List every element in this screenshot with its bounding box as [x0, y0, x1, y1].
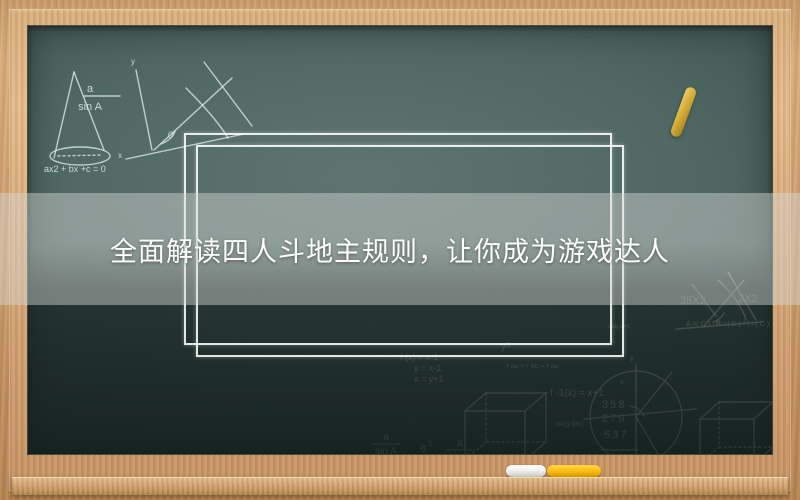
- chalk-formula-a: a: [87, 83, 94, 95]
- chalk-label-angle-top: 0: [168, 130, 173, 140]
- chalk-formula-quadratic: ax2 + bx +c = 0: [44, 164, 106, 174]
- chalkboard-banner: a sin A ax2 + bx +c = 0 y x 0 f (x) = x-…: [0, 0, 800, 500]
- chalk-label-axis-y-top: y: [131, 57, 135, 66]
- chalk-label-axis-x-top: x: [118, 151, 122, 160]
- white-chalk-stick: [506, 465, 546, 477]
- decorative-rectangle-inner: [196, 145, 624, 357]
- chalk-formula-sina: sin A: [78, 101, 103, 113]
- yellow-chalk-stick: [547, 465, 601, 477]
- chalk-ledge: [12, 477, 788, 495]
